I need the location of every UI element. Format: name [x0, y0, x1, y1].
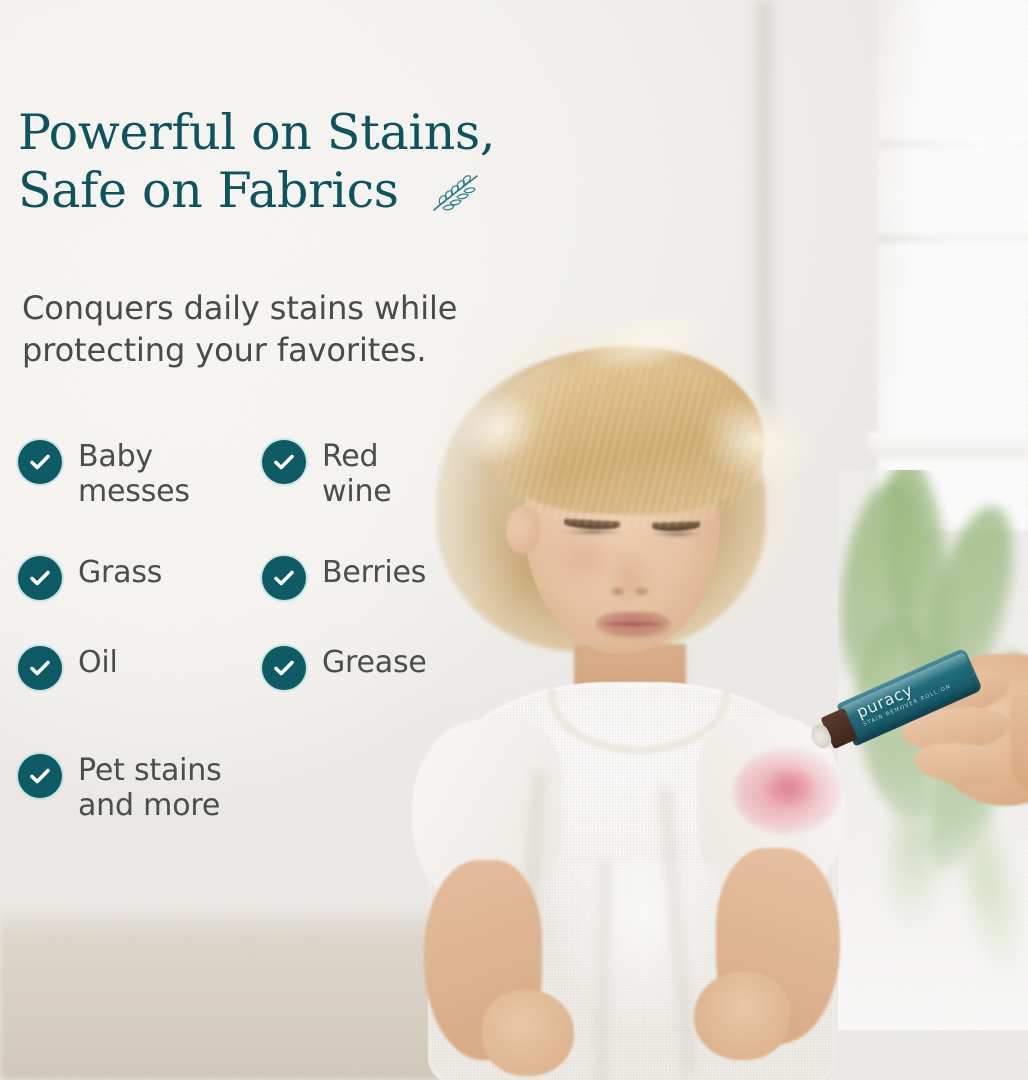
shirt-fold — [592, 860, 614, 1080]
benefit-label: Berries — [322, 554, 426, 590]
benefit-item-grass: Grass — [18, 554, 262, 600]
eyelash — [650, 532, 704, 536]
wrist — [1010, 680, 1028, 790]
benefit-row: Grass Berries — [18, 554, 538, 600]
chin — [576, 640, 686, 680]
benefit-row: Baby messes Red wine — [18, 438, 538, 510]
benefit-item-oil: Oil — [18, 644, 262, 690]
check-icon — [18, 646, 62, 690]
check-icon — [262, 440, 306, 484]
benefit-label: Grass — [78, 554, 162, 590]
check-icon — [262, 556, 306, 600]
text-overlay: Powerful on Stains, Safe on Fabrics — [0, 0, 560, 1080]
check-icon — [262, 646, 306, 690]
page-title: Powerful on Stains, Safe on Fabrics — [18, 104, 548, 226]
leaf-sprig-icon — [428, 168, 482, 226]
benefit-label: Pet stains and more — [78, 752, 222, 824]
nostril — [636, 588, 648, 595]
benefits-list: Baby messes Red wine Grass — [18, 438, 538, 824]
benefit-item-red-wine: Red wine — [262, 438, 506, 510]
benefit-row: Pet stains and more — [18, 752, 538, 824]
child-hand — [694, 972, 790, 1060]
headline-line-2: Safe on Fabrics — [18, 162, 399, 219]
benefit-item-grease: Grease — [262, 644, 506, 690]
benefit-item-baby-messes: Baby messes — [18, 438, 262, 510]
check-icon — [18, 754, 62, 798]
nostril — [612, 588, 624, 595]
headline-line-2-wrap: Safe on Fabrics — [18, 162, 548, 226]
benefit-item-placeholder — [262, 752, 506, 798]
benefit-label: Baby messes — [78, 438, 190, 510]
eyelash — [562, 530, 624, 534]
benefit-label: Red wine — [322, 438, 392, 510]
adult-hand-with-product: puracy STAIN REMOVER ROLL-ON — [778, 660, 1028, 840]
benefit-row: Oil Grease — [18, 644, 538, 690]
page-subtitle: Conquers daily stains while protecting y… — [22, 288, 552, 371]
benefit-item-pet-stains: Pet stains and more — [18, 752, 262, 824]
benefit-label: Oil — [78, 644, 118, 680]
product-feature-creative: puracy STAIN REMOVER ROLL-ON Powerful on… — [0, 0, 1028, 1080]
lip-line — [604, 622, 662, 626]
check-icon — [18, 556, 62, 600]
check-icon — [18, 440, 62, 484]
benefit-item-berries: Berries — [262, 554, 506, 600]
benefit-label: Grease — [322, 644, 427, 680]
headline-line-1: Powerful on Stains, — [18, 104, 548, 162]
